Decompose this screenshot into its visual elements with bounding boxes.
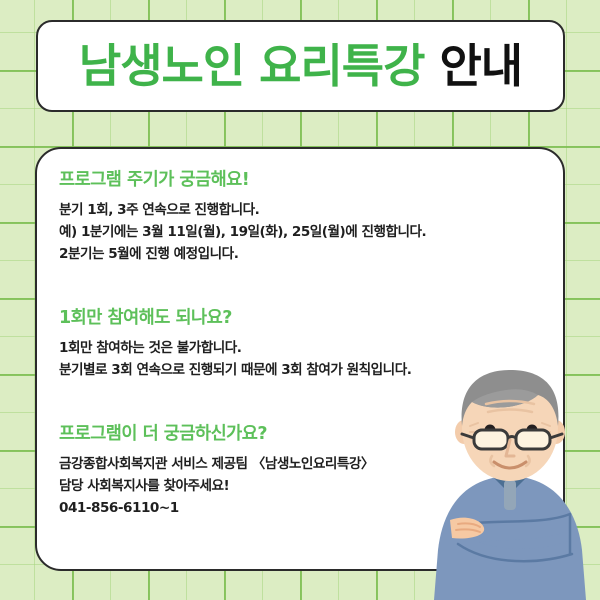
- faq-body-1: 분기 1회, 3주 연속으로 진행합니다. 예) 1분기에는 3월 11일(월)…: [59, 199, 426, 265]
- faq-body-3-line-1: 금강종합사회복지관 서비스 제공팀 〈남생노인요리특강〉: [59, 453, 374, 475]
- faq-body-2-line-1: 1회만 참여하는 것은 불가합니다.: [59, 337, 411, 359]
- poster-canvas: 남생노인 요리특강 안내 프로그램 주기가 궁금해요! 분기 1회, 3주 연속…: [0, 0, 600, 600]
- contact-phone-number: 041-856-6110~1: [59, 497, 374, 519]
- faq-body-3-line-2: 담당 사회복지사를 찾아주세요!: [59, 475, 374, 497]
- faq-section-contact: 프로그램이 더 궁금하신가요? 금강종합사회복지관 서비스 제공팀 〈남생노인요…: [59, 425, 374, 519]
- page-title-black: 안내: [439, 39, 522, 93]
- faq-body-2-line-2: 분기별로 3회 연속으로 진행되기 때문에 3회 참여가 원칙입니다.: [59, 359, 411, 381]
- faq-body-2: 1회만 참여하는 것은 불가합니다. 분기별로 3회 연속으로 진행되기 때문에…: [59, 337, 411, 381]
- faq-body-1-line-1: 분기 1회, 3주 연속으로 진행합니다.: [59, 199, 426, 221]
- page-title: 남생노인 요리특강 안내: [79, 43, 522, 89]
- title-card: 남생노인 요리특강 안내: [36, 20, 565, 112]
- faq-body-3: 금강종합사회복지관 서비스 제공팀 〈남생노인요리특강〉 담당 사회복지사를 찾…: [59, 453, 374, 519]
- faq-heading-3: 프로그램이 더 궁금하신가요?: [59, 425, 374, 444]
- faq-body-1-line-3: 2분기는 5월에 진행 예정입니다.: [59, 243, 426, 265]
- page-title-green: 남생노인 요리특강: [79, 39, 425, 93]
- faq-heading-2: 1회만 참여해도 되나요?: [59, 309, 411, 328]
- content-card: 프로그램 주기가 궁금해요! 분기 1회, 3주 연속으로 진행합니다. 예) …: [35, 147, 565, 571]
- faq-section-program-cycle: 프로그램 주기가 궁금해요! 분기 1회, 3주 연속으로 진행합니다. 예) …: [59, 171, 426, 265]
- faq-heading-1: 프로그램 주기가 궁금해요!: [59, 171, 426, 190]
- faq-body-1-line-2: 예) 1분기에는 3월 11일(월), 19일(화), 25일(월)에 진행합니…: [59, 221, 426, 243]
- faq-section-single-attendance: 1회만 참여해도 되나요? 1회만 참여하는 것은 불가합니다. 분기별로 3회…: [59, 309, 411, 381]
